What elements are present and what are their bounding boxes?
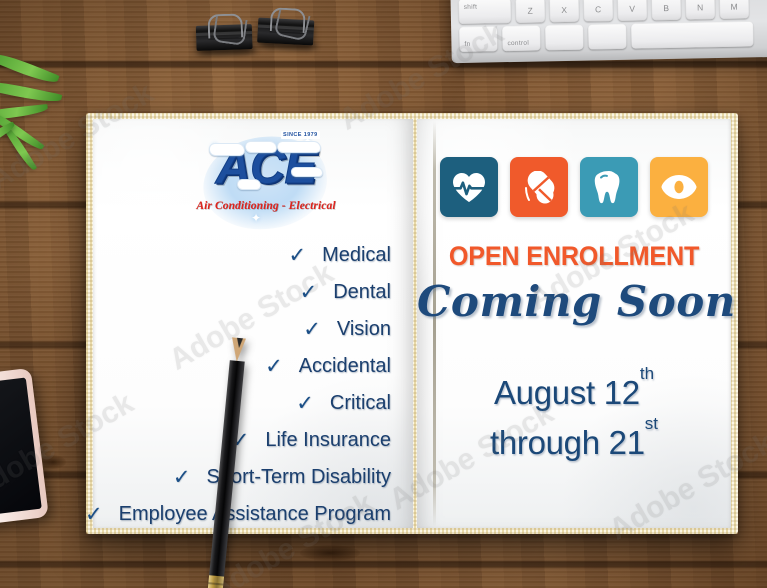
tooth-icon xyxy=(594,170,624,204)
checklist-item-label: Critical xyxy=(330,392,391,415)
benefit-tile-medical[interactable] xyxy=(440,157,498,217)
pills-icon xyxy=(522,171,556,204)
check-icon: ✓ xyxy=(300,282,318,303)
key-v[interactable]: V xyxy=(618,0,647,21)
check-icon: ✓ xyxy=(265,356,283,377)
key-n[interactable]: N xyxy=(686,0,715,20)
benefit-icons-row xyxy=(417,157,731,217)
notebook-left-page: ✦ ✦ ✦ ACE SINCE 1979 Air Conditioning - … xyxy=(93,119,413,528)
logo-since-badge: SINCE 1979 xyxy=(281,131,320,139)
eye-icon xyxy=(661,174,697,200)
enrollment-start-date: August 12th xyxy=(417,374,731,412)
logo-snow-cap xyxy=(237,179,261,190)
date-text: August 12 xyxy=(494,374,640,411)
check-icon: ✓ xyxy=(303,319,321,340)
logo-snow-cap xyxy=(245,141,277,153)
key-option[interactable] xyxy=(545,25,583,51)
keyboard-row-1: shift Z X C V B N M xyxy=(459,0,749,24)
key-fn[interactable]: fn xyxy=(459,26,497,52)
key-x[interactable]: X xyxy=(550,0,579,22)
pencil-lead xyxy=(236,338,243,349)
open-enrollment-headline: OPEN ENROLLMENT xyxy=(425,241,723,272)
key-label: Z xyxy=(527,5,533,15)
key-label: B xyxy=(663,2,669,12)
key-label: N xyxy=(697,2,704,12)
key-label: shift xyxy=(464,4,478,11)
open-notebook: ✦ ✦ ✦ ACE SINCE 1979 Air Conditioning - … xyxy=(86,113,738,534)
binder-clip-left[interactable] xyxy=(195,13,252,51)
checklist-item-label: Dental xyxy=(333,281,391,304)
apple-keyboard[interactable]: shift Z X C V B N M fn control xyxy=(450,0,767,63)
logo-snow-cap xyxy=(291,167,323,177)
potted-plant-leaves xyxy=(0,60,90,200)
date-text: through 21 xyxy=(490,424,645,461)
date-ordinal: th xyxy=(640,364,654,383)
checklist-item-label: Vision xyxy=(337,318,391,341)
key-c[interactable]: C xyxy=(584,0,613,22)
checklist-item-accidental[interactable]: ✓ Accidental xyxy=(93,348,413,385)
logo-snow-cap xyxy=(209,143,245,156)
key-label: fn xyxy=(464,41,470,48)
binder-clip-right[interactable] xyxy=(257,7,315,46)
key-label: M xyxy=(730,1,738,11)
check-icon: ✓ xyxy=(173,467,191,488)
coming-soon-subhead: Coming Soon xyxy=(417,277,731,326)
key-z[interactable]: Z xyxy=(516,0,545,23)
benefit-tile-prescription[interactable] xyxy=(510,157,568,217)
clip-arm-secondary xyxy=(212,16,247,46)
checklist-item-medical[interactable]: ✓ Medical xyxy=(93,237,413,274)
checklist-item-life-insurance[interactable]: ✓ Life Insurance xyxy=(93,422,413,459)
key-label: X xyxy=(561,4,567,14)
logo-tagline: Air Conditioning - Electrical xyxy=(185,200,347,212)
logo-snow-cap xyxy=(277,141,321,153)
key-m[interactable]: M xyxy=(720,0,749,19)
benefit-tile-dental[interactable] xyxy=(580,157,638,217)
key-label: V xyxy=(629,3,635,13)
key-label: C xyxy=(595,4,602,14)
key-shift[interactable]: shift xyxy=(459,0,511,24)
ace-logo: ✦ ✦ ✦ ACE SINCE 1979 Air Conditioning - … xyxy=(185,127,345,235)
sparkle-icon: ✦ xyxy=(251,211,261,225)
key-control[interactable]: control xyxy=(502,25,540,51)
checklist-item-label: Medical xyxy=(322,244,391,267)
checklist-item-employee-assistance-program[interactable]: ✓ Employee Assistance Program xyxy=(93,496,413,533)
benefits-checklist: ✓ Medical ✓ Dental ✓ Vision ✓ Accidental… xyxy=(93,237,413,533)
enrollment-announcement: OPEN ENROLLMENT Coming Soon August 12th … xyxy=(417,119,731,528)
check-icon: ✓ xyxy=(85,504,103,525)
checklist-item-vision[interactable]: ✓ Vision xyxy=(93,311,413,348)
benefit-tile-vision[interactable] xyxy=(650,157,708,217)
heart-pulse-icon xyxy=(452,172,486,203)
pencil-ferrule xyxy=(207,575,224,588)
key-command[interactable] xyxy=(588,24,626,50)
checklist-item-short-term-disability[interactable]: ✓ Short-Term Disability xyxy=(93,459,413,496)
key-b[interactable]: B xyxy=(652,0,681,20)
checklist-item-label: Life Insurance xyxy=(265,429,391,452)
scene: shift Z X C V B N M fn control xyxy=(0,0,767,588)
check-icon: ✓ xyxy=(288,245,306,266)
checklist-item-dental[interactable]: ✓ Dental xyxy=(93,274,413,311)
date-ordinal: st xyxy=(645,414,658,433)
check-icon: ✓ xyxy=(296,393,314,414)
key-label: control xyxy=(507,40,529,47)
checklist-item-critical[interactable]: ✓ Critical xyxy=(93,385,413,422)
checklist-item-label: Employee Assistance Program xyxy=(119,503,391,526)
keyboard-row-2: fn control xyxy=(459,21,753,52)
enrollment-end-date: through 21st xyxy=(417,424,731,462)
checklist-item-label: Accidental xyxy=(299,355,391,378)
key-spacebar[interactable] xyxy=(631,21,753,48)
